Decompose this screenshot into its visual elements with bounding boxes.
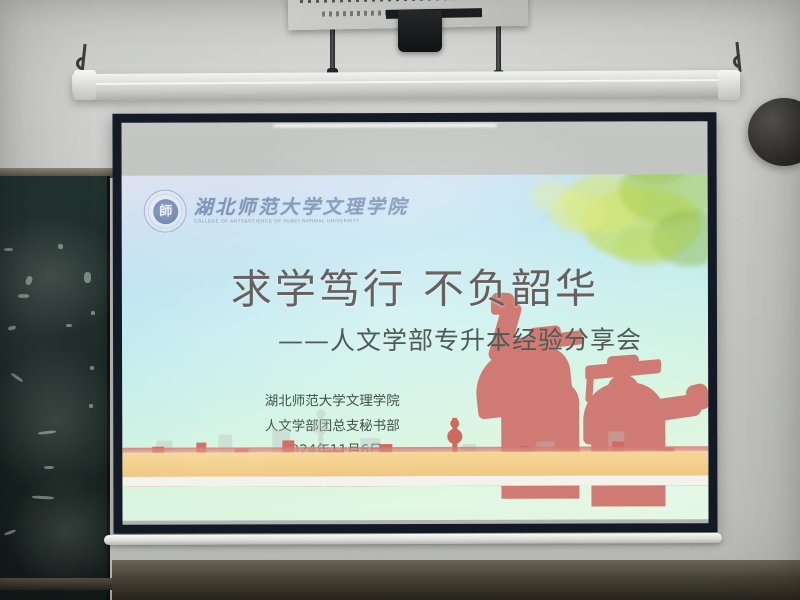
roller-end-cap-left: [74, 70, 96, 100]
university-logo: 師 湖北师范大学文理学院 COLLEGE OF ARTS&SCIENCE OF …: [144, 189, 409, 233]
roller-seam: [82, 79, 730, 85]
university-seal-icon: 師: [144, 190, 187, 233]
projected-slide: 師 湖北师范大学文理学院 COLLEGE OF ARTS&SCIENCE OF …: [122, 174, 709, 521]
logo-english-name: COLLEGE OF ARTS&SCIENCE OF HUBEI NORMAL …: [194, 219, 409, 224]
projector-lens: [398, 10, 442, 52]
slide-subtitle: ——人文学部专升本经验分享会: [122, 320, 708, 358]
gold-footer-band: [122, 451, 708, 477]
projector-mount-rod: [330, 24, 335, 72]
logo-chinese-name: 湖北师范大学文理学院: [194, 198, 409, 219]
white-footer-band: [122, 475, 708, 487]
city-skyline: [122, 393, 708, 487]
projector-mount-rod: [496, 26, 501, 74]
seal-inner-disc: 師: [153, 199, 178, 224]
roller-end-cap-right: [718, 70, 740, 100]
projector-vents: [300, 0, 516, 3]
blackboard-bottom-frame: [0, 578, 114, 590]
chalk-tray: [112, 560, 800, 600]
blackboard: [0, 176, 110, 600]
classroom-scene: 師 湖北师范大学文理学院 COLLEGE OF ARTS&SCIENCE OF …: [0, 0, 800, 600]
screen-surface: 師 湖北师范大学文理学院 COLLEGE OF ARTS&SCIENCE OF …: [121, 121, 708, 525]
screen-top-glare: [274, 124, 497, 128]
slide-title: 求学笃行 不负韶华: [122, 254, 708, 316]
seal-glyph: 師: [159, 204, 171, 217]
projection-screen: 師 湖北师范大学文理学院 COLLEGE OF ARTS&SCIENCE OF …: [112, 112, 717, 534]
screen-roller-housing[interactable]: [72, 70, 740, 100]
